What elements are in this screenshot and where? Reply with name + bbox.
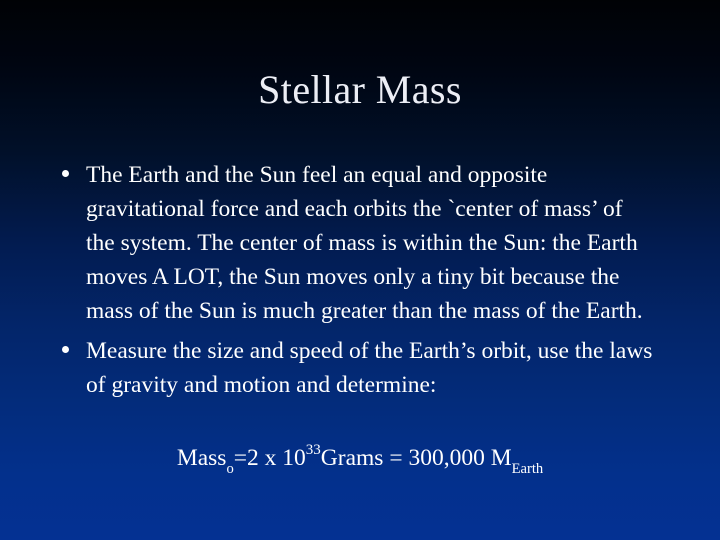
formula-units: Grams	[321, 445, 384, 471]
bullet-dot-icon	[62, 170, 69, 177]
bullet-text-2: Measure the size and speed of the Earth’…	[86, 334, 656, 402]
slide-body: The Earth and the Sun feel an equal and …	[56, 158, 656, 408]
formula-sun-subscript: o	[226, 461, 233, 477]
formula-equals: =	[383, 445, 408, 471]
formula-exponent: 33	[306, 442, 321, 458]
list-item: The Earth and the Sun feel an equal and …	[56, 158, 656, 328]
bullet-dot-icon	[62, 346, 69, 353]
formula-middle: =2 x 10	[234, 445, 306, 471]
formula-mass-label: Mass	[177, 445, 227, 471]
formula-earth-mass-label: M	[485, 445, 512, 471]
bullet-text-1: The Earth and the Sun feel an equal and …	[86, 158, 656, 328]
formula-equation: Masso=2 x 1033Grams = 300,000 MEarth	[0, 442, 720, 474]
formula-value: 300,000	[408, 445, 484, 471]
presentation-slide: Stellar Mass The Earth and the Sun feel …	[0, 0, 720, 540]
formula-earth-subscript: Earth	[512, 461, 544, 477]
page-title: Stellar Mass	[0, 66, 720, 114]
list-item: Measure the size and speed of the Earth’…	[56, 334, 656, 402]
